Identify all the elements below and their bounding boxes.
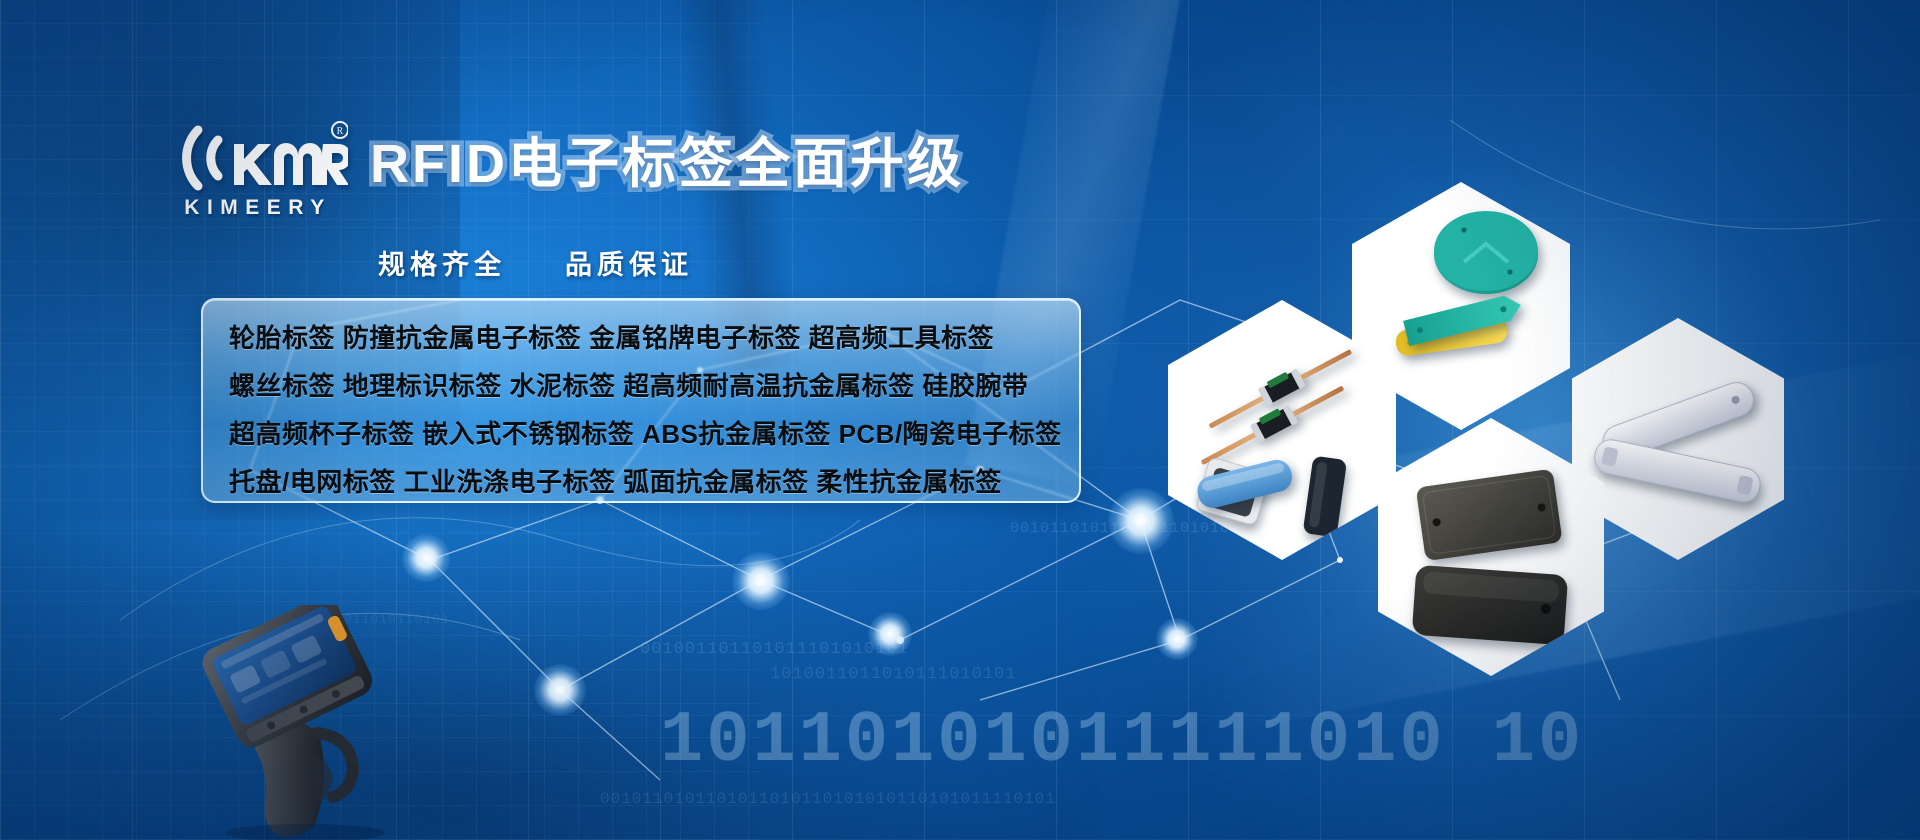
rfid-banner: 00101101011010111010101 0010011011010111… [0,0,1920,840]
background-vignette [0,0,1920,840]
